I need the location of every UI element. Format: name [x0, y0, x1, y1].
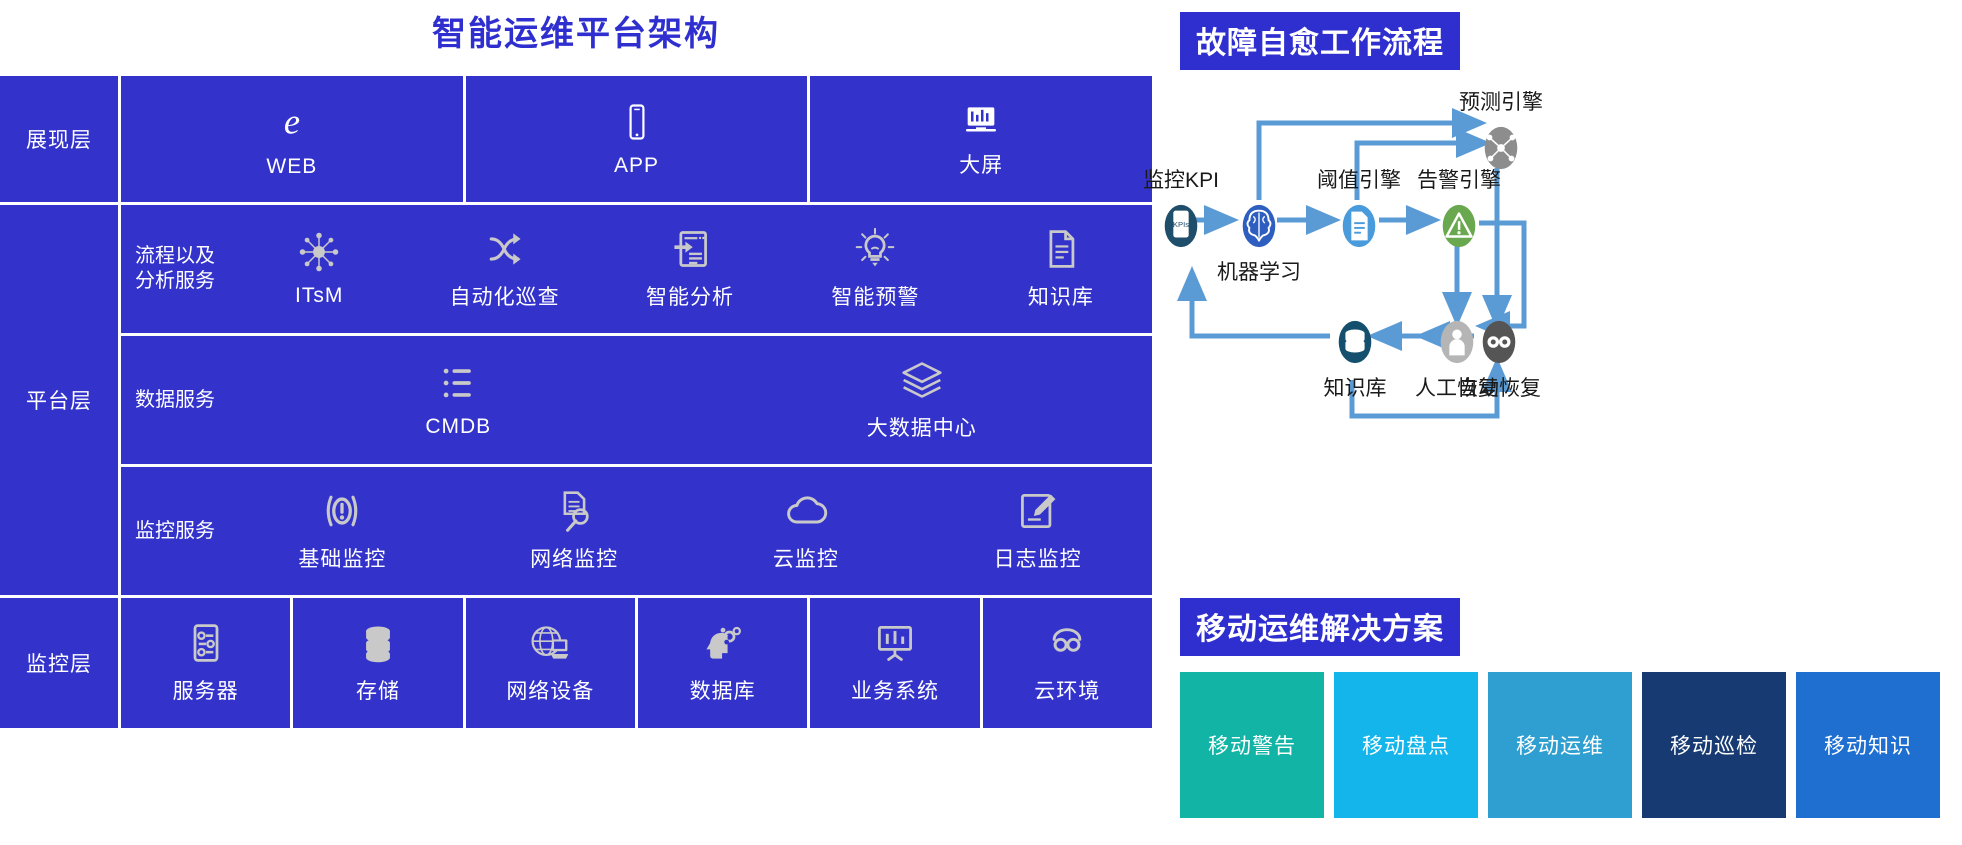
architecture-cell[interactable]: 数据库 — [638, 598, 807, 728]
database-stack-icon — [356, 621, 400, 665]
alert-pulse-icon — [320, 489, 364, 533]
cell-caption: 业务系统 — [851, 675, 939, 705]
architecture-cell[interactable]: 服务器 — [121, 598, 290, 728]
band-body: 服务器存储网络设备数据库业务系统云环境 — [121, 598, 1152, 728]
architecture-subrow: 监控服务基础监控网络监控云监控日志监控 — [121, 467, 1152, 595]
cell-caption: 网络设备 — [506, 675, 594, 705]
flow-node-label: 预测引擎 — [1453, 86, 1549, 116]
architecture-cell[interactable]: 业务系统 — [810, 598, 979, 728]
band-label: 平台层 — [0, 205, 118, 595]
architecture-title: 智能运维平台架构 — [0, 6, 1152, 55]
subrow-label: 监控服务 — [121, 467, 225, 595]
mobile-cards: 移动警告移动盘点移动运维移动巡检移动知识 — [1180, 672, 1940, 818]
architecture-panel: 智能运维平台架构 展现层eWEBAPP大屏平台层流程以及 分析服务ITsM自动化… — [0, 0, 1152, 845]
cell-group: 基础监控网络监控云监控日志监控 — [228, 467, 1152, 595]
architecture-subrow: eWEBAPP大屏 — [121, 76, 1152, 202]
cell-caption: 网络监控 — [530, 543, 618, 573]
architecture-band: 监控层服务器存储网络设备数据库业务系统云环境 — [0, 598, 1152, 728]
internet-explorer-icon: e — [269, 99, 315, 145]
flow-node[interactable] — [1436, 198, 1482, 254]
server-icon — [184, 621, 228, 665]
mobile-card-label: 移动巡检 — [1670, 730, 1758, 760]
architecture-cell[interactable]: 知识库 — [970, 205, 1152, 333]
architecture-subrow: 流程以及 分析服务ITsM自动化巡查智能分析智能预警知识库 — [121, 205, 1152, 333]
cell-caption: 基础监控 — [298, 543, 386, 573]
architecture-cell[interactable]: 云环境 — [983, 598, 1152, 728]
cell-group: CMDB大数据中心 — [228, 336, 1152, 464]
architecture-cell[interactable]: 大数据中心 — [692, 336, 1153, 464]
architecture-cell[interactable]: APP — [466, 76, 808, 202]
flow-node-label: 知识库 — [1307, 372, 1403, 402]
architecture-cell[interactable]: 网络监控 — [460, 467, 689, 595]
document-icon — [1039, 227, 1083, 271]
flow-node[interactable] — [1478, 120, 1524, 176]
cell-caption: 日志监控 — [994, 543, 1082, 573]
mobile-card[interactable]: 移动运维 — [1488, 672, 1632, 818]
infinity-cloud-icon — [1045, 621, 1089, 665]
dashboard-screen-icon — [958, 99, 1004, 139]
edit-note-icon — [1016, 489, 1060, 533]
flow-node[interactable] — [1434, 314, 1480, 370]
right-column: 故障自愈工作流程 — [1152, 0, 1962, 845]
cell-caption: 大屏 — [959, 149, 1003, 179]
flow-node-label: 阈值引擎 — [1311, 164, 1407, 194]
cell-caption: 知识库 — [1028, 281, 1094, 311]
layers-icon — [900, 358, 944, 402]
mobile-title: 移动运维解决方案 — [1180, 598, 1460, 656]
cell-caption: 智能预警 — [831, 281, 919, 311]
mobile-title-wrap: 移动运维解决方案 — [1180, 598, 1460, 656]
architecture-grid: 展现层eWEBAPP大屏平台层流程以及 分析服务ITsM自动化巡查智能分析智能预… — [0, 76, 1152, 828]
flow-node[interactable] — [1476, 314, 1522, 370]
architecture-subrow: 服务器存储网络设备数据库业务系统云环境 — [121, 598, 1152, 728]
mobile-card-label: 移动警告 — [1208, 730, 1296, 760]
globe-device-icon — [528, 621, 572, 665]
cell-caption: WEB — [266, 155, 317, 179]
cell-caption: ITsM — [295, 284, 343, 308]
architecture-cell[interactable]: 自动化巡查 — [413, 205, 595, 333]
mobile-card-label: 移动运维 — [1516, 730, 1604, 760]
architecture-cell[interactable]: 智能预警 — [784, 205, 966, 333]
flow-node-label: 监控KPI — [1133, 164, 1229, 194]
architecture-subrow: 数据服务CMDB大数据中心 — [121, 336, 1152, 464]
architecture-band: 展现层eWEBAPP大屏 — [0, 76, 1152, 202]
flow-node-label: 自动恢复 — [1451, 372, 1547, 402]
mobile-card[interactable]: 移动警告 — [1180, 672, 1324, 818]
cell-caption: 云环境 — [1034, 675, 1100, 705]
flow-arrows — [1152, 58, 1962, 528]
architecture-cell[interactable]: eWEB — [121, 76, 463, 202]
architecture-cell[interactable]: ITsM — [228, 205, 410, 333]
architecture-cell[interactable]: 日志监控 — [923, 467, 1152, 595]
architecture-band: 平台层流程以及 分析服务ITsM自动化巡查智能分析智能预警知识库数据服务CMDB… — [0, 205, 1152, 595]
cell-caption: 自动化巡查 — [450, 281, 560, 311]
flow-node-label: 机器学习 — [1211, 256, 1307, 286]
mobile-card-label: 移动盘点 — [1362, 730, 1450, 760]
shuffle-icon — [483, 227, 527, 271]
cell-caption: 数据库 — [690, 675, 756, 705]
report-flow-icon — [668, 227, 712, 271]
list-icon — [436, 361, 480, 405]
cell-caption: 大数据中心 — [867, 412, 977, 442]
mobile-card[interactable]: 移动知识 — [1796, 672, 1940, 818]
smartphone-icon — [615, 100, 659, 144]
mobile-card-label: 移动知识 — [1824, 730, 1912, 760]
cell-group: ITsM自动化巡查智能分析智能预警知识库 — [228, 205, 1152, 333]
doc-search-icon — [552, 489, 596, 533]
self-healing-flowchart: KPIs监控KPI机器学习阈值引擎告警引擎预测引擎知识库人工恢复自动恢复 — [1152, 58, 1962, 528]
architecture-cell[interactable]: 网络设备 — [466, 598, 635, 728]
arrow-alarm-to-auto — [1479, 223, 1524, 326]
architecture-cell[interactable]: 基础监控 — [228, 467, 457, 595]
flow-node[interactable]: KPIs — [1158, 198, 1204, 254]
svg-text:KPIs: KPIs — [1173, 220, 1189, 229]
band-body: eWEBAPP大屏 — [121, 76, 1152, 202]
cell-caption: CMDB — [425, 415, 491, 439]
mobile-card[interactable]: 移动巡检 — [1642, 672, 1786, 818]
subrow-label: 流程以及 分析服务 — [121, 205, 225, 333]
cell-group: eWEBAPP大屏 — [121, 76, 1152, 202]
presentation-chart-icon — [873, 621, 917, 665]
svg-text:e: e — [284, 102, 300, 142]
cell-caption: APP — [614, 154, 659, 178]
cell-caption: 服务器 — [173, 675, 239, 705]
mobile-card[interactable]: 移动盘点 — [1334, 672, 1478, 818]
architecture-cell[interactable]: CMDB — [228, 336, 689, 464]
band-label: 监控层 — [0, 598, 118, 728]
flow-node[interactable] — [1332, 314, 1378, 370]
architecture-cell[interactable]: 云监控 — [692, 467, 921, 595]
slide-root: 智能运维平台架构 展现层eWEBAPP大屏平台层流程以及 分析服务ITsM自动化… — [0, 0, 1962, 845]
architecture-cell[interactable]: 大屏 — [810, 76, 1152, 202]
band-label: 展现层 — [0, 76, 118, 202]
flow-node[interactable] — [1336, 198, 1382, 254]
flow-node[interactable] — [1236, 198, 1282, 254]
cell-caption: 云监控 — [773, 543, 839, 573]
cell-caption: 存储 — [356, 675, 400, 705]
cell-group: 服务器存储网络设备数据库业务系统云环境 — [121, 598, 1152, 728]
lightbulb-icon — [853, 227, 897, 271]
cell-caption: 智能分析 — [646, 281, 734, 311]
architecture-cell[interactable]: 智能分析 — [599, 205, 781, 333]
network-hub-icon — [297, 230, 341, 274]
cloud-icon — [784, 489, 828, 533]
band-body: 流程以及 分析服务ITsM自动化巡查智能分析智能预警知识库数据服务CMDB大数据… — [121, 205, 1152, 595]
architecture-cell[interactable]: 存储 — [293, 598, 462, 728]
subrow-label: 数据服务 — [121, 336, 225, 464]
head-gears-icon — [701, 621, 745, 665]
